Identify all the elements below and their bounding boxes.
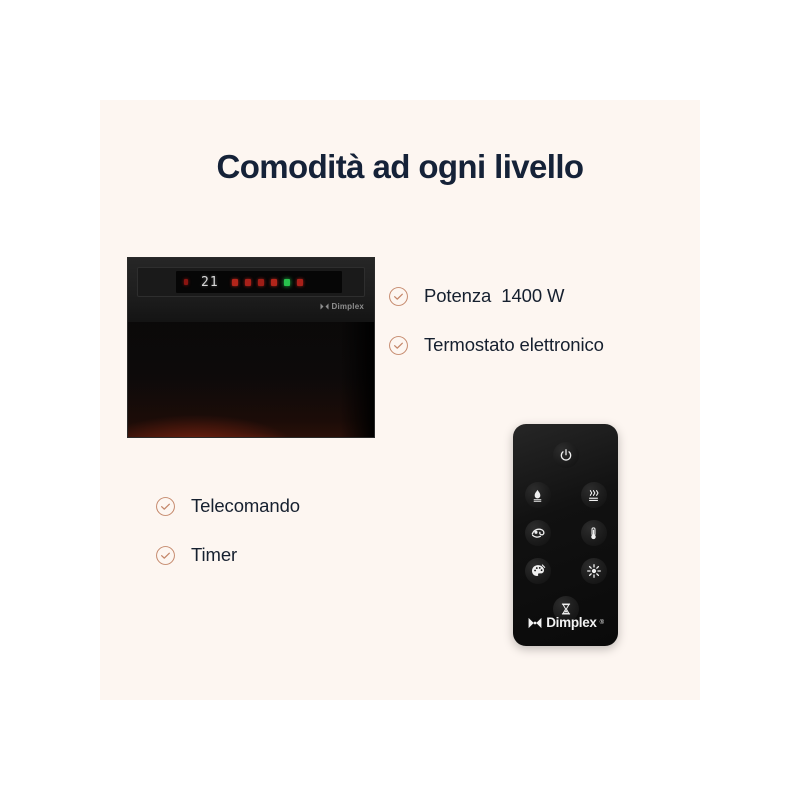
flame-icon	[530, 488, 545, 503]
feature-label: Timer	[191, 544, 237, 566]
thermostat-button[interactable]	[581, 520, 607, 546]
thermometer-icon	[586, 526, 601, 541]
check-circle-icon	[155, 545, 176, 566]
fireplace-display-value: 21	[201, 275, 219, 290]
fireplace-product-image: 21 Dimplex	[127, 257, 375, 438]
remote-row-power	[513, 442, 618, 468]
fireplace-brand: Dimplex	[320, 302, 364, 311]
check-circle-icon	[155, 496, 176, 517]
flame-speed-icon	[530, 525, 546, 541]
standby-led	[184, 279, 188, 285]
flame-colour-button[interactable]	[525, 558, 551, 584]
remote-button-grid	[513, 424, 618, 622]
registered-mark: ®	[600, 620, 604, 626]
remote-row-2	[513, 520, 618, 546]
fan-led	[258, 279, 264, 286]
remote-row-3	[513, 558, 618, 584]
fireplace-brand-label: Dimplex	[331, 302, 364, 311]
feature-item-telecomando: Telecomando	[155, 495, 300, 517]
feature-card: Comodità ad ogni livello 21	[100, 100, 700, 700]
fireplace-display: 21	[176, 271, 342, 293]
remote-control-image: Dimplex®	[513, 424, 618, 646]
feature-list-left: Telecomando Timer	[155, 495, 300, 593]
flame-effect-button[interactable]	[525, 482, 551, 508]
brightness-icon	[586, 563, 602, 579]
power-button[interactable]	[553, 442, 579, 468]
power-icon	[559, 448, 573, 462]
fireplace-control-strip: 21	[137, 267, 365, 297]
dimplex-logo-mark-icon	[527, 617, 543, 629]
heater-button[interactable]	[581, 482, 607, 508]
feature-label: Termostato elettronico	[424, 334, 604, 356]
brightness-button[interactable]	[581, 558, 607, 584]
active-led	[284, 279, 290, 286]
remote-brand-label: Dimplex	[546, 615, 596, 630]
palette-icon	[530, 563, 546, 579]
hourglass-icon	[559, 602, 573, 616]
flame-speed-button[interactable]	[525, 520, 551, 546]
page-title: Comodità ad ogni livello	[100, 148, 700, 186]
remote-row-1	[513, 482, 618, 508]
feature-item-timer: Timer	[155, 544, 300, 566]
dimplex-logo-mark-icon	[320, 303, 329, 310]
feature-label: Telecomando	[191, 495, 300, 517]
heat-waves-icon	[586, 488, 601, 503]
page-root: Comodità ad ogni livello 21	[0, 0, 800, 800]
check-circle-icon	[388, 335, 409, 356]
feature-item-potenza: Potenza 1400 W	[388, 285, 604, 307]
timer-led	[297, 279, 303, 286]
fireplace-firebox	[128, 322, 374, 437]
remote-brand: Dimplex®	[513, 615, 618, 630]
check-circle-icon	[388, 286, 409, 307]
feature-label: Potenza 1400 W	[424, 285, 564, 307]
heater-led	[245, 279, 251, 286]
feature-item-termostato: Termostato elettronico	[388, 334, 604, 356]
flame-led	[232, 279, 238, 286]
mode-led	[271, 279, 277, 286]
feature-list-right: Potenza 1400 W Termostato elettronico	[388, 285, 604, 383]
